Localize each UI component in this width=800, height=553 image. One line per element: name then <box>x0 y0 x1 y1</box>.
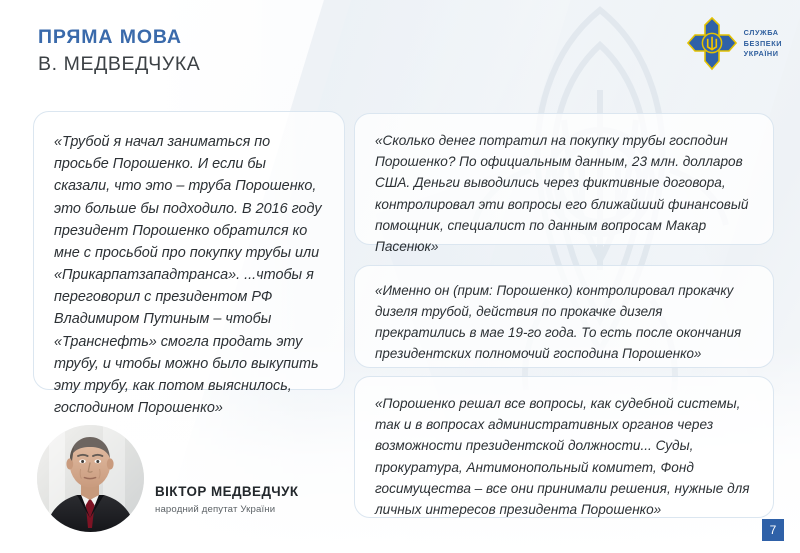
quote-text-right-3: «Порошенко решал все вопросы, как судебн… <box>375 393 753 520</box>
speaker-block: ВІКТОР МЕДВЕДЧУК народний депутат Україн… <box>37 425 299 532</box>
quote-card-right-3: «Порошенко решал все вопросы, как судебн… <box>354 376 774 518</box>
sbu-cross-icon <box>687 17 737 71</box>
sbu-logo-line-1: СЛУЖБА <box>744 28 782 39</box>
slide-canvas: ПРЯМА МОВА В. МЕДВЕДЧУКА СЛУЖБА БЕЗПЕКИ … <box>0 0 800 553</box>
page-number-badge: 7 <box>762 519 784 541</box>
sbu-logo-line-3: УКРАЇНИ <box>744 49 782 60</box>
quote-card-right-2: «Именно он (прим: Порошенко) контролиров… <box>354 265 774 368</box>
speaker-name: ВІКТОР МЕДВЕДЧУК <box>155 484 299 500</box>
quote-text-right-2: «Именно он (прим: Порошенко) контролиров… <box>375 281 753 365</box>
quote-card-left: «Трубой я начал заниматься по просьбе По… <box>33 111 345 390</box>
title-line-secondary: В. МЕДВЕДЧУКА <box>38 52 200 76</box>
sbu-logo-line-2: БЕЗПЕКИ <box>744 39 782 50</box>
speaker-meta: ВІКТОР МЕДВЕДЧУК народний депутат Україн… <box>155 484 299 532</box>
sbu-logo-text: СЛУЖБА БЕЗПЕКИ УКРАЇНИ <box>744 28 782 60</box>
sbu-logo: СЛУЖБА БЕЗПЕКИ УКРАЇНИ <box>687 17 782 71</box>
quote-text-right-1: «Сколько денег потратил на покупку трубы… <box>375 130 753 257</box>
quote-card-right-1: «Сколько денег потратил на покупку трубы… <box>354 113 774 245</box>
avatar <box>37 425 144 532</box>
page-title: ПРЯМА МОВА В. МЕДВЕДЧУКА <box>38 26 200 77</box>
speaker-role: народний депутат України <box>155 504 299 516</box>
quote-text-left: «Трубой я начал заниматься по просьбе По… <box>54 131 324 419</box>
title-line-primary: ПРЯМА МОВА <box>38 26 200 49</box>
